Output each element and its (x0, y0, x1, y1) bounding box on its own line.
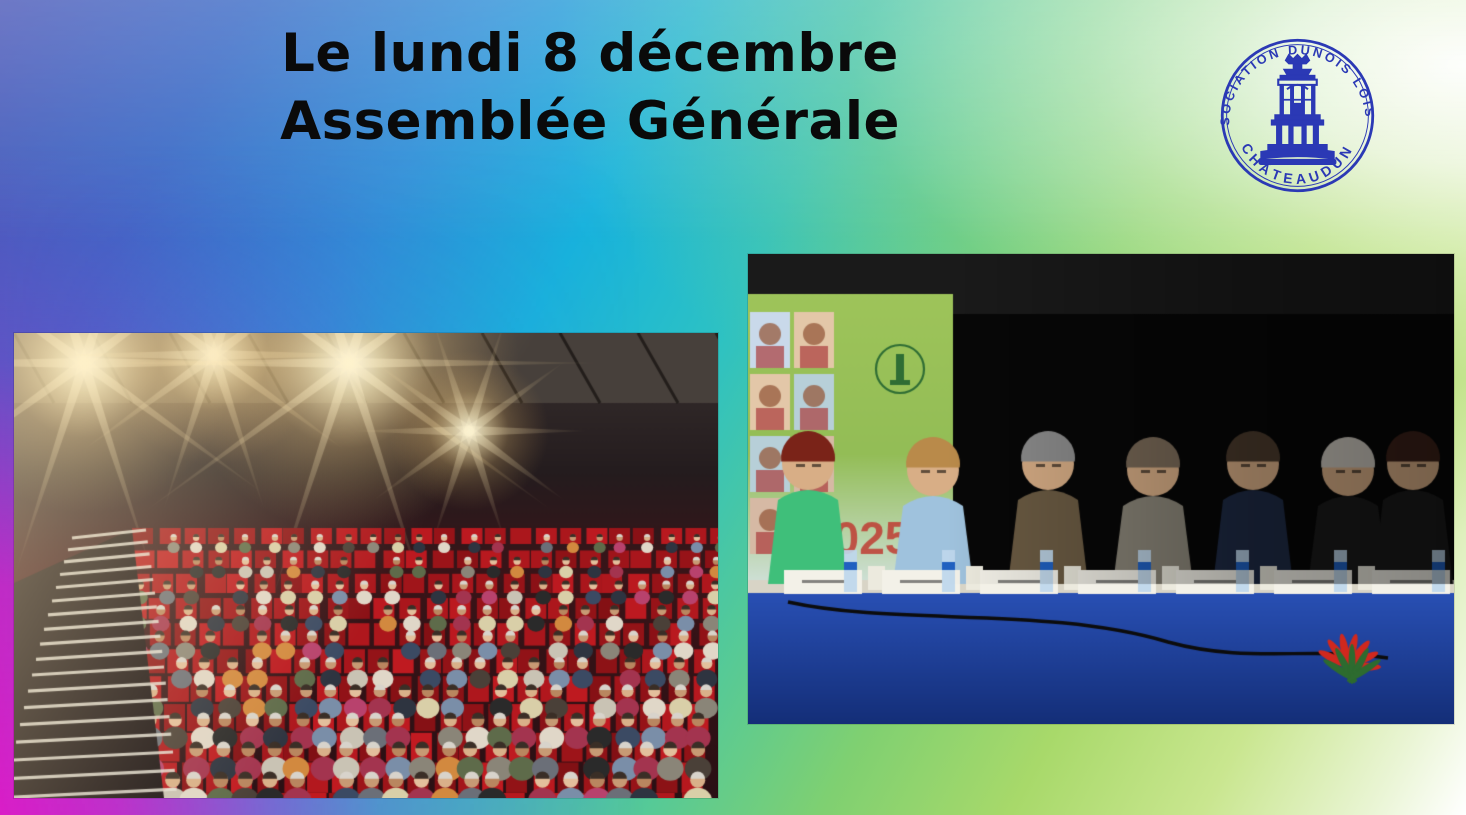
auditorium-audience-photo (14, 333, 718, 798)
title-line-1: Le lundi 8 décembre (0, 18, 1180, 90)
slide-canvas: Le lundi 8 décembre Assemblée Générale (0, 0, 1466, 815)
association-logo: ASSOCIATION DUNOIS LOISIRS CHÂTEAUDUN (1210, 28, 1385, 203)
page-title: Le lundi 8 décembre Assemblée Générale (0, 18, 1180, 158)
title-line-2: Assemblée Générale (0, 86, 1180, 158)
committee-panel-photo (748, 254, 1454, 724)
